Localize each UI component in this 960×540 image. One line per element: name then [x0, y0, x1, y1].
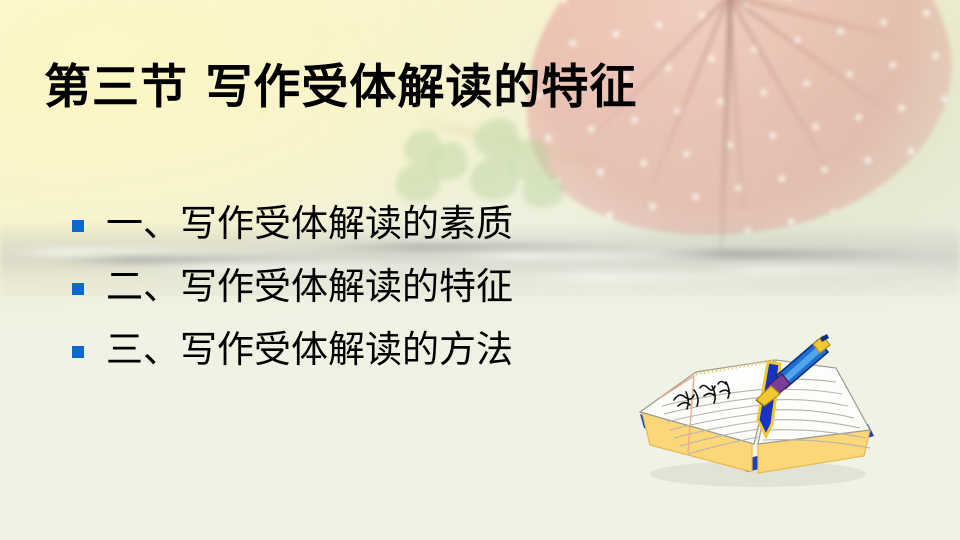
- bullet-list: 一、写作受体解读的素质 二、写作受体解读的特征 三、写作受体解读的方法: [72, 192, 692, 381]
- square-bullet-icon: [72, 346, 84, 358]
- list-item[interactable]: 二、写作受体解读的特征: [72, 255, 692, 318]
- umbrella-rib-icon: [728, 0, 900, 41]
- slide-canvas: 第三节 写作受体解读的特征 一、写作受体解读的素质 二、写作受体解读的特征 三、…: [0, 0, 960, 540]
- open-book-icon: [630, 332, 880, 492]
- list-item[interactable]: 三、写作受体解读的方法: [72, 318, 692, 381]
- clover-lobe-icon: [404, 130, 442, 164]
- clover-lobe-icon: [474, 118, 520, 158]
- square-bullet-icon: [72, 220, 84, 232]
- square-bullet-icon: [72, 283, 84, 295]
- umbrella-pole-icon: [718, 0, 733, 250]
- clover-lobe-icon: [506, 138, 550, 180]
- list-item[interactable]: 一、写作受体解读的素质: [72, 192, 692, 255]
- list-item-label: 三、写作受体解读的方法: [106, 331, 513, 368]
- list-item-label: 一、写作受体解读的素质: [106, 205, 513, 242]
- twig-icon: [408, 113, 595, 168]
- slide-title: 第三节 写作受体解读的特征: [44, 61, 904, 116]
- clover-lobe-icon: [428, 142, 468, 180]
- list-item-label: 二、写作受体解读的特征: [106, 268, 513, 305]
